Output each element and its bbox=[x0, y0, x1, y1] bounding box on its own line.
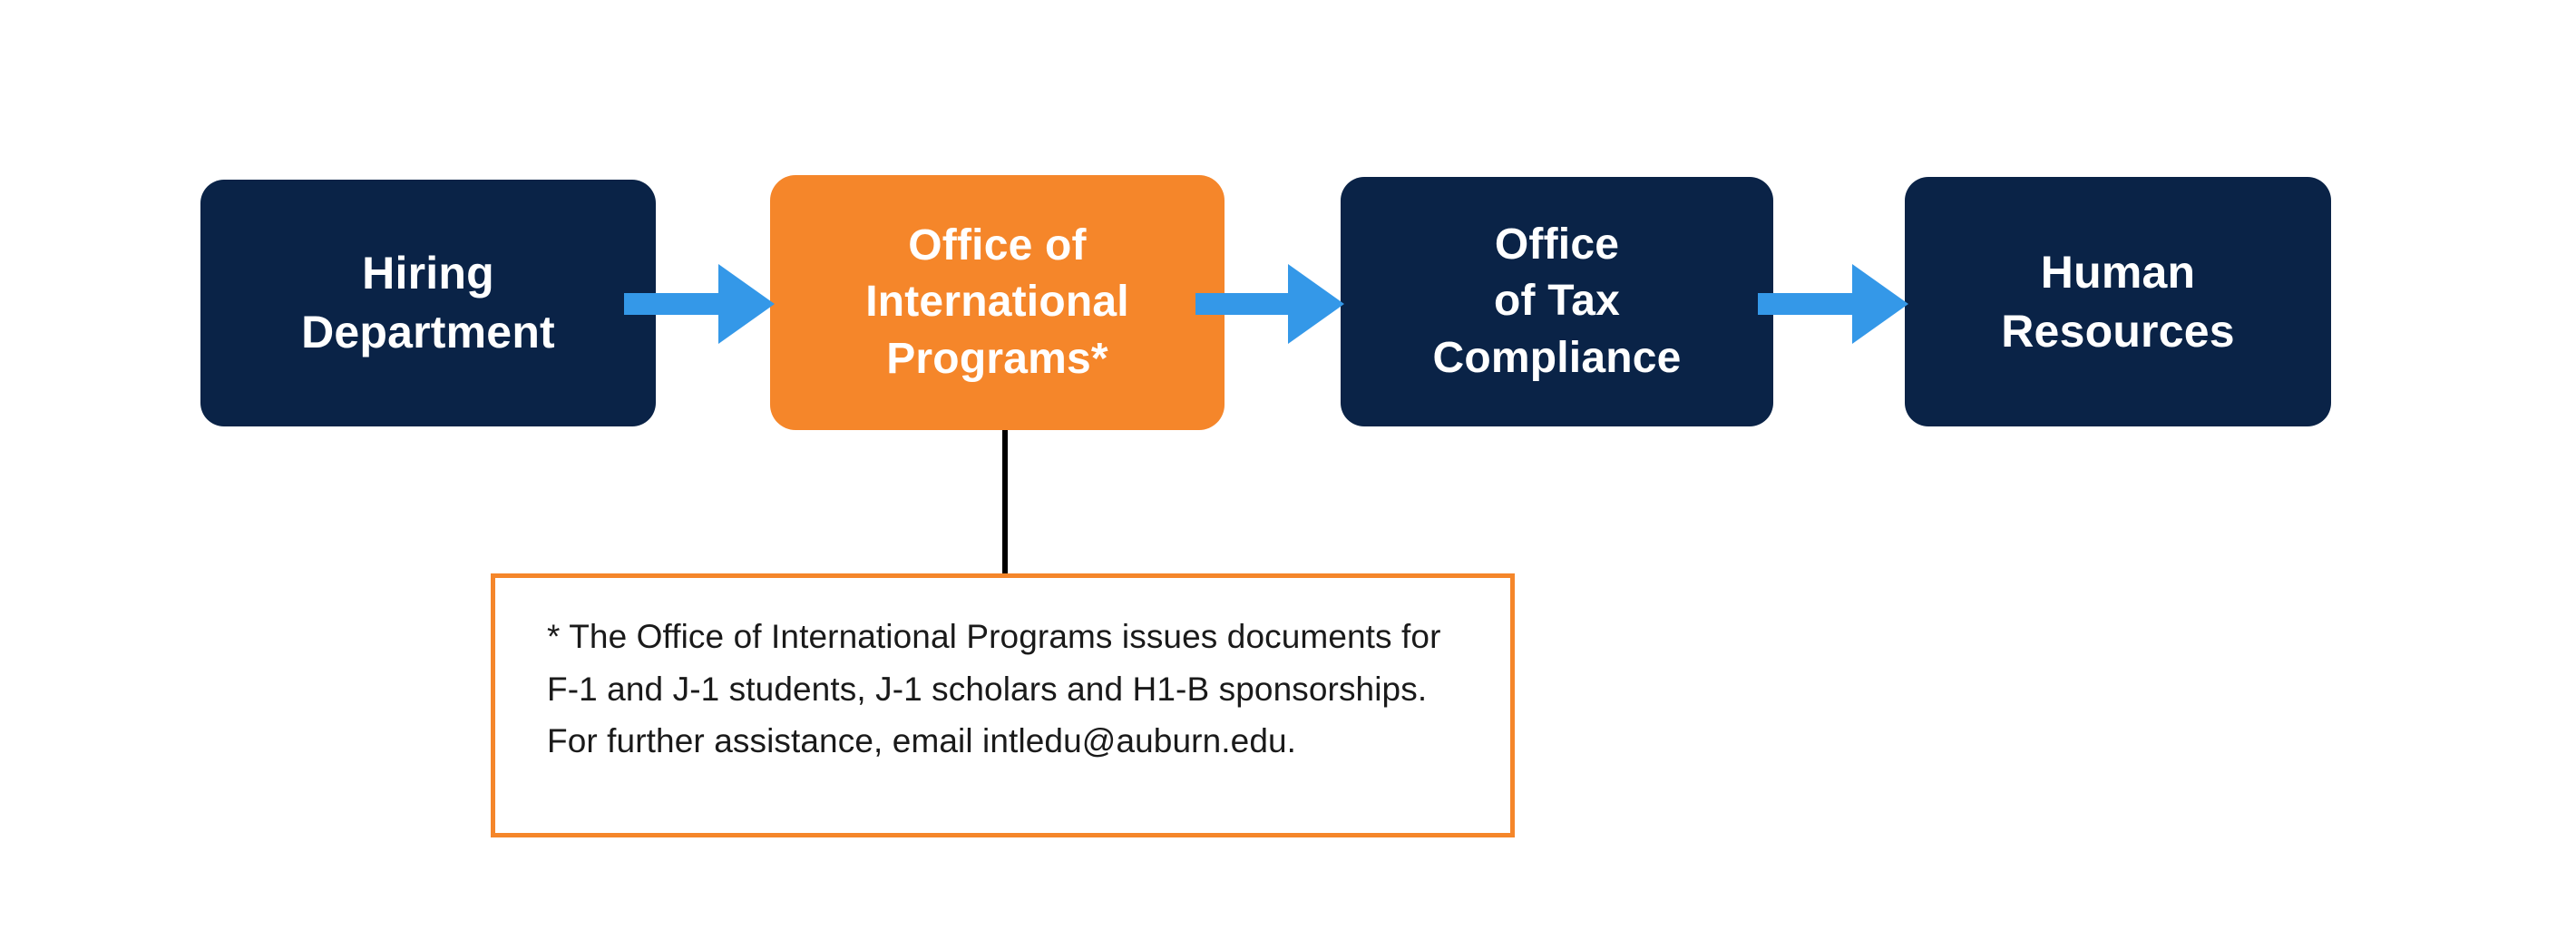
arrow-tax-compliance-to-human-resources bbox=[1758, 262, 1908, 346]
footnote-text: * The Office of International Programs i… bbox=[547, 611, 1481, 768]
process-node-label: Office of Tax Compliance bbox=[1432, 217, 1681, 387]
process-node-hiring-department[interactable]: Hiring Department bbox=[200, 180, 656, 426]
process-node-label: Hiring Department bbox=[301, 244, 555, 362]
footnote-connector-line bbox=[1002, 410, 1008, 575]
footnote-callout-box: * The Office of International Programs i… bbox=[491, 573, 1515, 837]
process-node-office-of-tax-compliance[interactable]: Office of Tax Compliance bbox=[1341, 177, 1773, 426]
process-node-human-resources[interactable]: Human Resources bbox=[1905, 177, 2331, 426]
diagram-canvas: Hiring Department Office of Internationa… bbox=[0, 0, 2576, 940]
process-node-office-of-international-programs[interactable]: Office of International Programs* bbox=[770, 175, 1225, 430]
process-node-label: Human Resources bbox=[2001, 243, 2235, 361]
process-node-label: Office of International Programs* bbox=[865, 218, 1129, 387]
arrow-hiring-to-international-programs bbox=[624, 262, 775, 346]
arrow-international-programs-to-tax-compliance bbox=[1195, 262, 1344, 346]
